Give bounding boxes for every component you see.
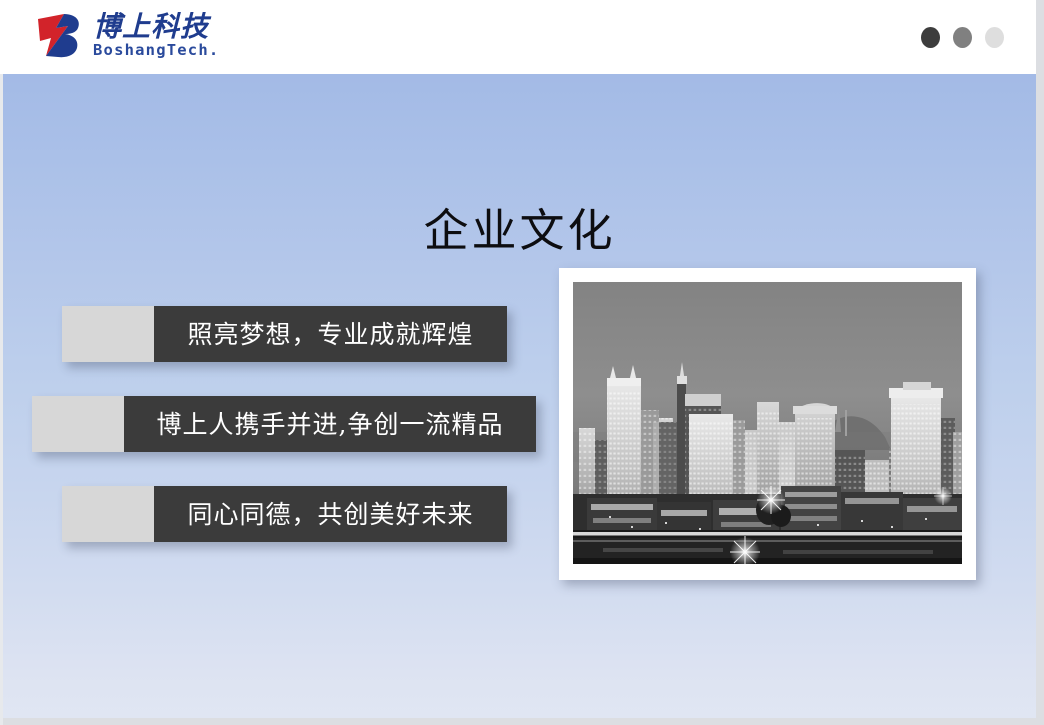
boshang-b-mark-icon [34,10,84,60]
slogan-text-1: 照亮梦想，专业成就辉煌 [187,322,473,347]
header-dot-2[interactable] [953,27,972,48]
slide-body: 企业文化 照亮梦想，专业成就辉煌 博上人携手并进,争创一流精品 同心同德，共创美… [3,74,1036,718]
slogan-bar-2: 博上人携手并进,争创一流精品 [32,396,536,452]
header-dot-1[interactable] [921,27,940,48]
slogan-bar-3: 同心同德，共创美好未来 [62,486,507,542]
slogan-text-2: 博上人携手并进,争创一流精品 [157,412,504,437]
logo-brand-en: BoshangTech. [93,43,219,59]
page-edge-right [1036,0,1044,725]
slogan-swatch-3 [62,486,154,542]
header-dot-3[interactable] [985,27,1004,48]
slogan-swatch-2 [32,396,124,452]
page-edge-left [0,0,3,725]
city-skyline-night-photo [573,282,962,564]
logo-wordmark: 博上科技 BoshangTech. [93,12,219,59]
slogan-body-2: 博上人携手并进,争创一流精品 [124,396,536,452]
company-logo[interactable]: 博上科技 BoshangTech. [34,10,219,60]
slogan-swatch-1 [62,306,154,362]
slogan-bar-1: 照亮梦想，专业成就辉煌 [62,306,507,362]
slogan-body-1: 照亮梦想，专业成就辉煌 [154,306,507,362]
page-title: 企业文化 [3,205,1036,257]
logo-brand-cn: 博上科技 [93,12,219,41]
slide-header: 博上科技 BoshangTech. [0,0,1036,74]
slide-canvas: 博上科技 BoshangTech. 企业文化 照亮梦想，专业成就辉煌 博上人携手… [0,0,1044,725]
header-dot-group [921,27,1004,48]
slogan-body-3: 同心同德，共创美好未来 [154,486,507,542]
page-edge-bottom [0,718,1044,725]
photo-frame [559,268,976,580]
slogan-text-3: 同心同德，共创美好未来 [187,502,473,527]
